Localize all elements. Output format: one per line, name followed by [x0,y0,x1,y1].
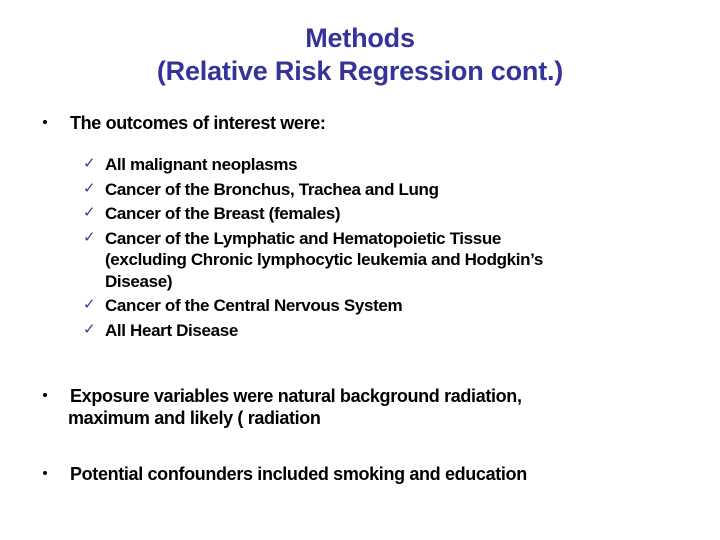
slide-title: Methods (Relative Risk Regression cont.) [0,22,720,88]
outcomes-list: ✓ All malignant neoplasms ✓ Cancer of th… [0,154,720,341]
title-line-1: Methods [0,22,720,55]
check-icon: ✓ [83,297,97,313]
check-icon: ✓ [83,205,97,221]
list-item: ✓ Cancer of the Breast (females) [0,203,720,225]
list-item: ✓ Cancer of the Lymphatic and Hematopoie… [0,228,720,293]
list-item: ✓ Cancer of the Bronchus, Trachea and Lu… [0,179,720,201]
bullet-confounders: Potential confounders included smoking a… [0,463,720,485]
list-item-label-cont: Disease) [105,271,684,293]
list-item-label: Cancer of the Breast (females) [105,203,684,225]
bullet-dot-icon [43,393,47,397]
check-icon: ✓ [83,230,97,246]
bullet-confounders-text: Potential confounders included smoking a… [70,464,527,484]
list-item: ✓ All Heart Disease [0,320,720,342]
bullet-dot-icon [43,120,47,124]
title-line-2: (Relative Risk Regression cont.) [0,55,720,88]
check-icon: ✓ [83,322,97,338]
list-item-label: All malignant neoplasms [105,154,684,176]
bullet-exposure-text-cont: maximum and likely ( radiation [68,407,696,429]
list-item-label-cont: (excluding Chronic lymphocytic leukemia … [105,249,684,271]
bullet-outcomes-intro: The outcomes of interest were: [0,112,720,134]
check-icon: ✓ [83,181,97,197]
list-item: ✓ All malignant neoplasms [0,154,720,176]
list-item-label: Cancer of the Central Nervous System [105,295,684,317]
slide-body: The outcomes of interest were: ✓ All mal… [0,112,720,485]
list-item-label: All Heart Disease [105,320,684,342]
bullet-outcomes-intro-text: The outcomes of interest were: [70,113,326,133]
bullet-exposure-text: Exposure variables were natural backgrou… [70,386,522,406]
bullet-dot-icon [43,471,47,475]
check-icon: ✓ [83,156,97,172]
list-item-label: Cancer of the Bronchus, Trachea and Lung [105,179,684,201]
slide-canvas: Methods (Relative Risk Regression cont.)… [0,0,720,540]
list-item: ✓ Cancer of the Central Nervous System [0,295,720,317]
bullet-exposure: Exposure variables were natural backgrou… [0,385,720,429]
list-item-label: Cancer of the Lymphatic and Hematopoieti… [105,228,684,250]
